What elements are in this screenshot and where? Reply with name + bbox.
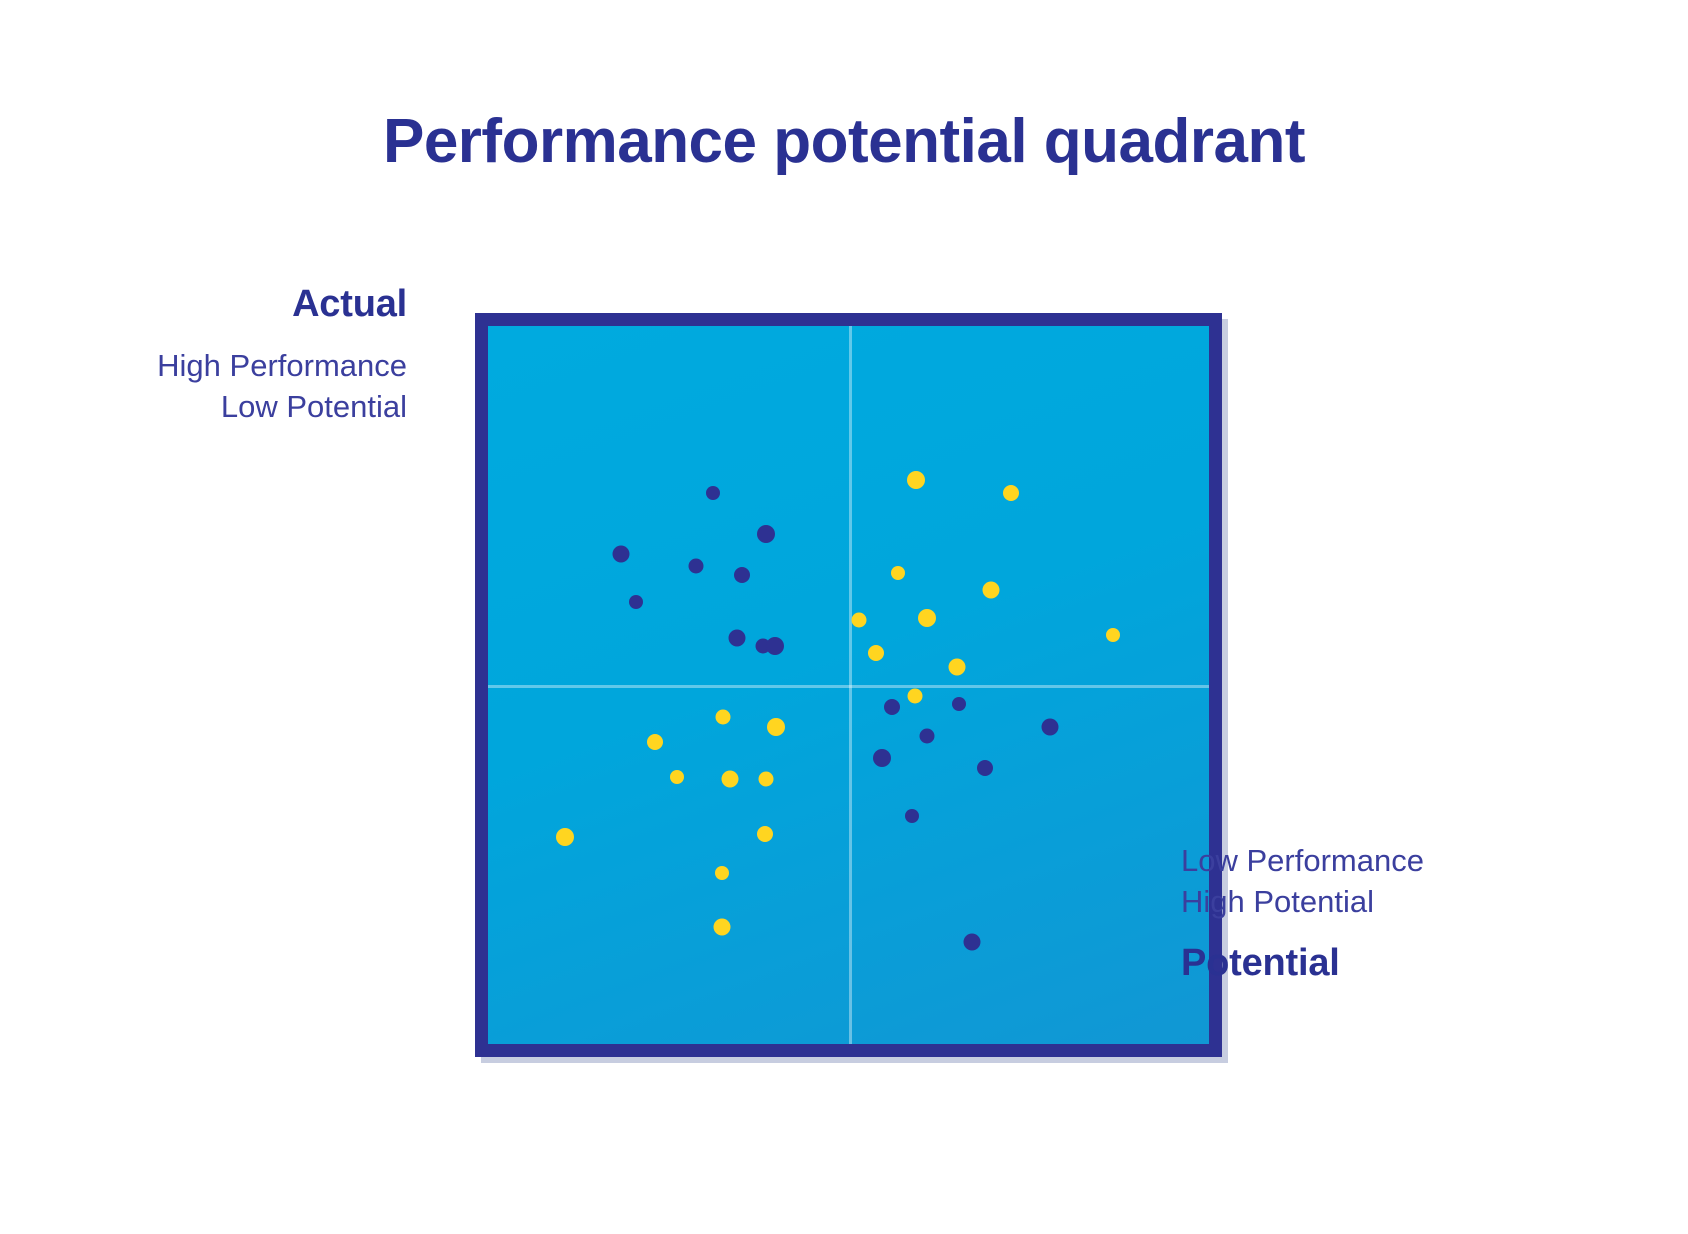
horizontal-divider-line bbox=[488, 685, 1209, 688]
scatter-point bbox=[905, 809, 919, 823]
plot-area bbox=[488, 326, 1209, 1044]
scatter-point bbox=[629, 595, 643, 609]
scatter-point bbox=[907, 471, 925, 489]
scatter-point bbox=[556, 828, 574, 846]
top-left-caption-line-1: High Performance bbox=[0, 346, 407, 387]
scatter-point bbox=[982, 582, 999, 599]
quadrant-chart bbox=[475, 313, 1222, 1057]
scatter-point bbox=[891, 566, 905, 580]
scatter-point bbox=[952, 697, 966, 711]
scatter-point bbox=[948, 659, 965, 676]
page-title: Performance potential quadrant bbox=[0, 108, 1688, 176]
scatter-point bbox=[706, 486, 720, 500]
y-axis-label: Actual bbox=[0, 283, 407, 326]
scatter-point bbox=[734, 567, 750, 583]
scatter-point bbox=[688, 558, 703, 573]
scatter-point bbox=[713, 918, 730, 935]
scatter-point bbox=[647, 734, 663, 750]
scatter-point bbox=[759, 772, 774, 787]
scatter-point bbox=[918, 609, 936, 627]
scatter-point bbox=[852, 612, 867, 627]
bottom-right-caption-line-2: High Potential bbox=[1181, 882, 1641, 923]
scatter-point bbox=[907, 689, 922, 704]
scatter-point bbox=[977, 760, 993, 776]
scatter-point bbox=[1106, 628, 1120, 642]
scatter-point bbox=[721, 771, 738, 788]
x-axis-label: Potential bbox=[1181, 942, 1641, 985]
top-left-quadrant-caption: High Performance Low Potential bbox=[0, 346, 407, 427]
scatter-point bbox=[729, 630, 746, 647]
scatter-point bbox=[757, 826, 773, 842]
scatter-point bbox=[767, 718, 785, 736]
scatter-point bbox=[884, 699, 900, 715]
scatter-point bbox=[1003, 485, 1019, 501]
scatter-point bbox=[757, 525, 775, 543]
scatter-point bbox=[920, 728, 935, 743]
scatter-point bbox=[766, 637, 784, 655]
scatter-point bbox=[873, 749, 891, 767]
scatter-point bbox=[716, 709, 731, 724]
top-left-caption-line-2: Low Potential bbox=[0, 387, 407, 428]
scatter-point bbox=[868, 645, 884, 661]
bottom-right-caption-line-1: Low Performance bbox=[1181, 841, 1641, 882]
scatter-point bbox=[670, 770, 684, 784]
scatter-point bbox=[963, 934, 980, 951]
bottom-right-quadrant-caption: Low Performance High Potential bbox=[1181, 841, 1641, 922]
scatter-point bbox=[715, 866, 729, 880]
scatter-point bbox=[613, 545, 630, 562]
scatter-point bbox=[1042, 718, 1059, 735]
